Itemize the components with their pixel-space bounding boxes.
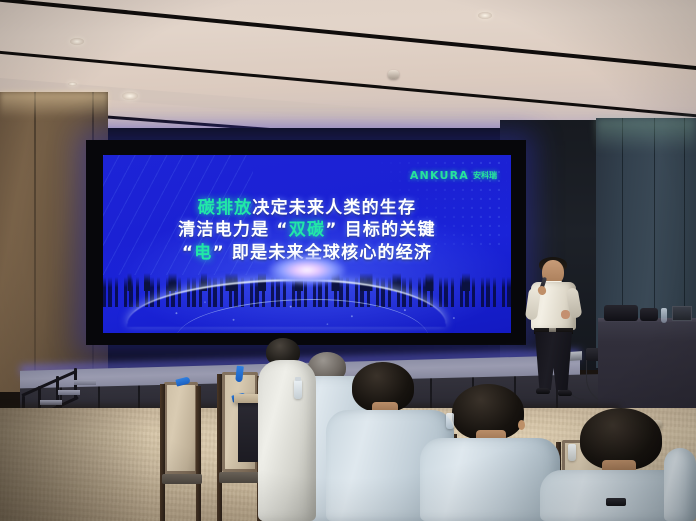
attendee-2 bbox=[258, 338, 318, 521]
attendee-shirt bbox=[258, 360, 316, 521]
laptop-icon bbox=[672, 306, 692, 321]
floor-shadow-left bbox=[0, 408, 150, 521]
water-bottle-icon bbox=[294, 380, 302, 399]
recessed-light-icon bbox=[68, 82, 77, 86]
equipment-table bbox=[598, 322, 696, 412]
ceiling-slat bbox=[0, 0, 696, 82]
brand-logo: ANKURA 安科瑞 bbox=[410, 170, 497, 181]
attendee-shirt bbox=[420, 438, 560, 521]
camera-bag-icon bbox=[604, 305, 638, 321]
recessed-light-icon bbox=[122, 92, 138, 100]
bottle-cap-icon bbox=[295, 377, 301, 381]
slide-line-2: 清洁电力是 “双碳” 目标的关键 bbox=[103, 219, 511, 241]
water-bottle-icon bbox=[661, 308, 667, 323]
recessed-light-icon bbox=[70, 38, 84, 45]
presenter-trousers bbox=[535, 332, 572, 390]
attendee-shirt bbox=[664, 448, 696, 521]
attendee-ear bbox=[518, 420, 525, 430]
right-wall-cove-light bbox=[596, 118, 696, 152]
slide-line-1: 碳排放决定未来人类的生存 bbox=[103, 197, 511, 219]
smoke-detector-icon bbox=[388, 70, 399, 79]
presenter-hand bbox=[561, 310, 570, 319]
water-bottle-icon bbox=[446, 413, 454, 429]
recessed-light-icon bbox=[478, 12, 492, 19]
attendee-6 bbox=[664, 448, 696, 521]
water-bottle-icon bbox=[568, 444, 576, 461]
presenter bbox=[524, 258, 586, 398]
left-wall-cove-light bbox=[0, 92, 108, 118]
conference-room-photo: ANKURA 安科瑞 碳排放决定未来人类的生存 清洁电力是 “双碳” 目标的关键… bbox=[0, 0, 696, 521]
slide-light-burst bbox=[268, 255, 346, 285]
banquet-chair[interactable] bbox=[160, 382, 206, 521]
attendee-4 bbox=[420, 384, 560, 521]
presenter-shoe bbox=[558, 390, 572, 396]
camera-bag-icon bbox=[640, 308, 658, 321]
phone-icon bbox=[606, 498, 626, 506]
led-screen[interactable]: ANKURA 安科瑞 碳排放决定未来人类的生存 清洁电力是 “双碳” 目标的关键… bbox=[103, 155, 511, 333]
brand-logo-chinese: 安科瑞 bbox=[473, 172, 497, 180]
brand-logo-latin: ANKURA bbox=[410, 170, 469, 181]
